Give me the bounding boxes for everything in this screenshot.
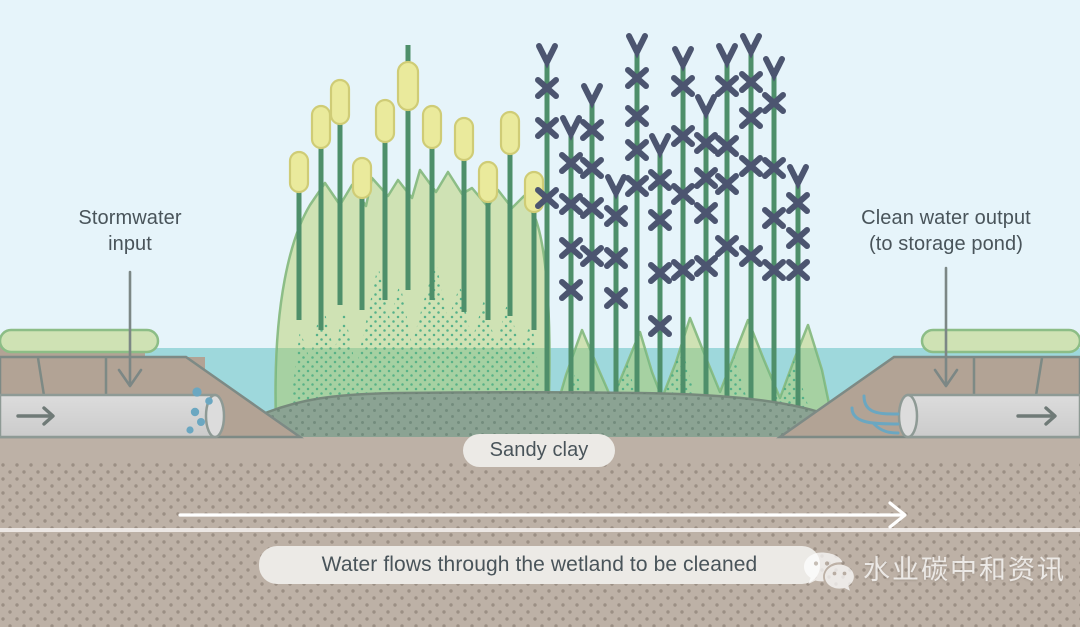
stormwater-input-label: Stormwater input <box>26 205 234 257</box>
wechat-icon <box>803 551 855 591</box>
clean-water-output-label: Clean water output (to storage pond) <box>826 205 1066 257</box>
wechat-watermark: 水业碳中和资讯 <box>803 551 1066 591</box>
water-flow-label: Water flows through the wetland to be cl… <box>259 546 820 584</box>
inlet-grass-cap <box>0 330 158 352</box>
sandy-clay-label: Sandy clay <box>463 434 615 467</box>
soil-divider <box>0 528 1080 532</box>
wetland-diagram: Stormwater input Clean water output (to … <box>0 0 1080 627</box>
diagram-canvas <box>0 0 1080 627</box>
watermark-text: 水业碳中和资讯 <box>863 556 1066 586</box>
